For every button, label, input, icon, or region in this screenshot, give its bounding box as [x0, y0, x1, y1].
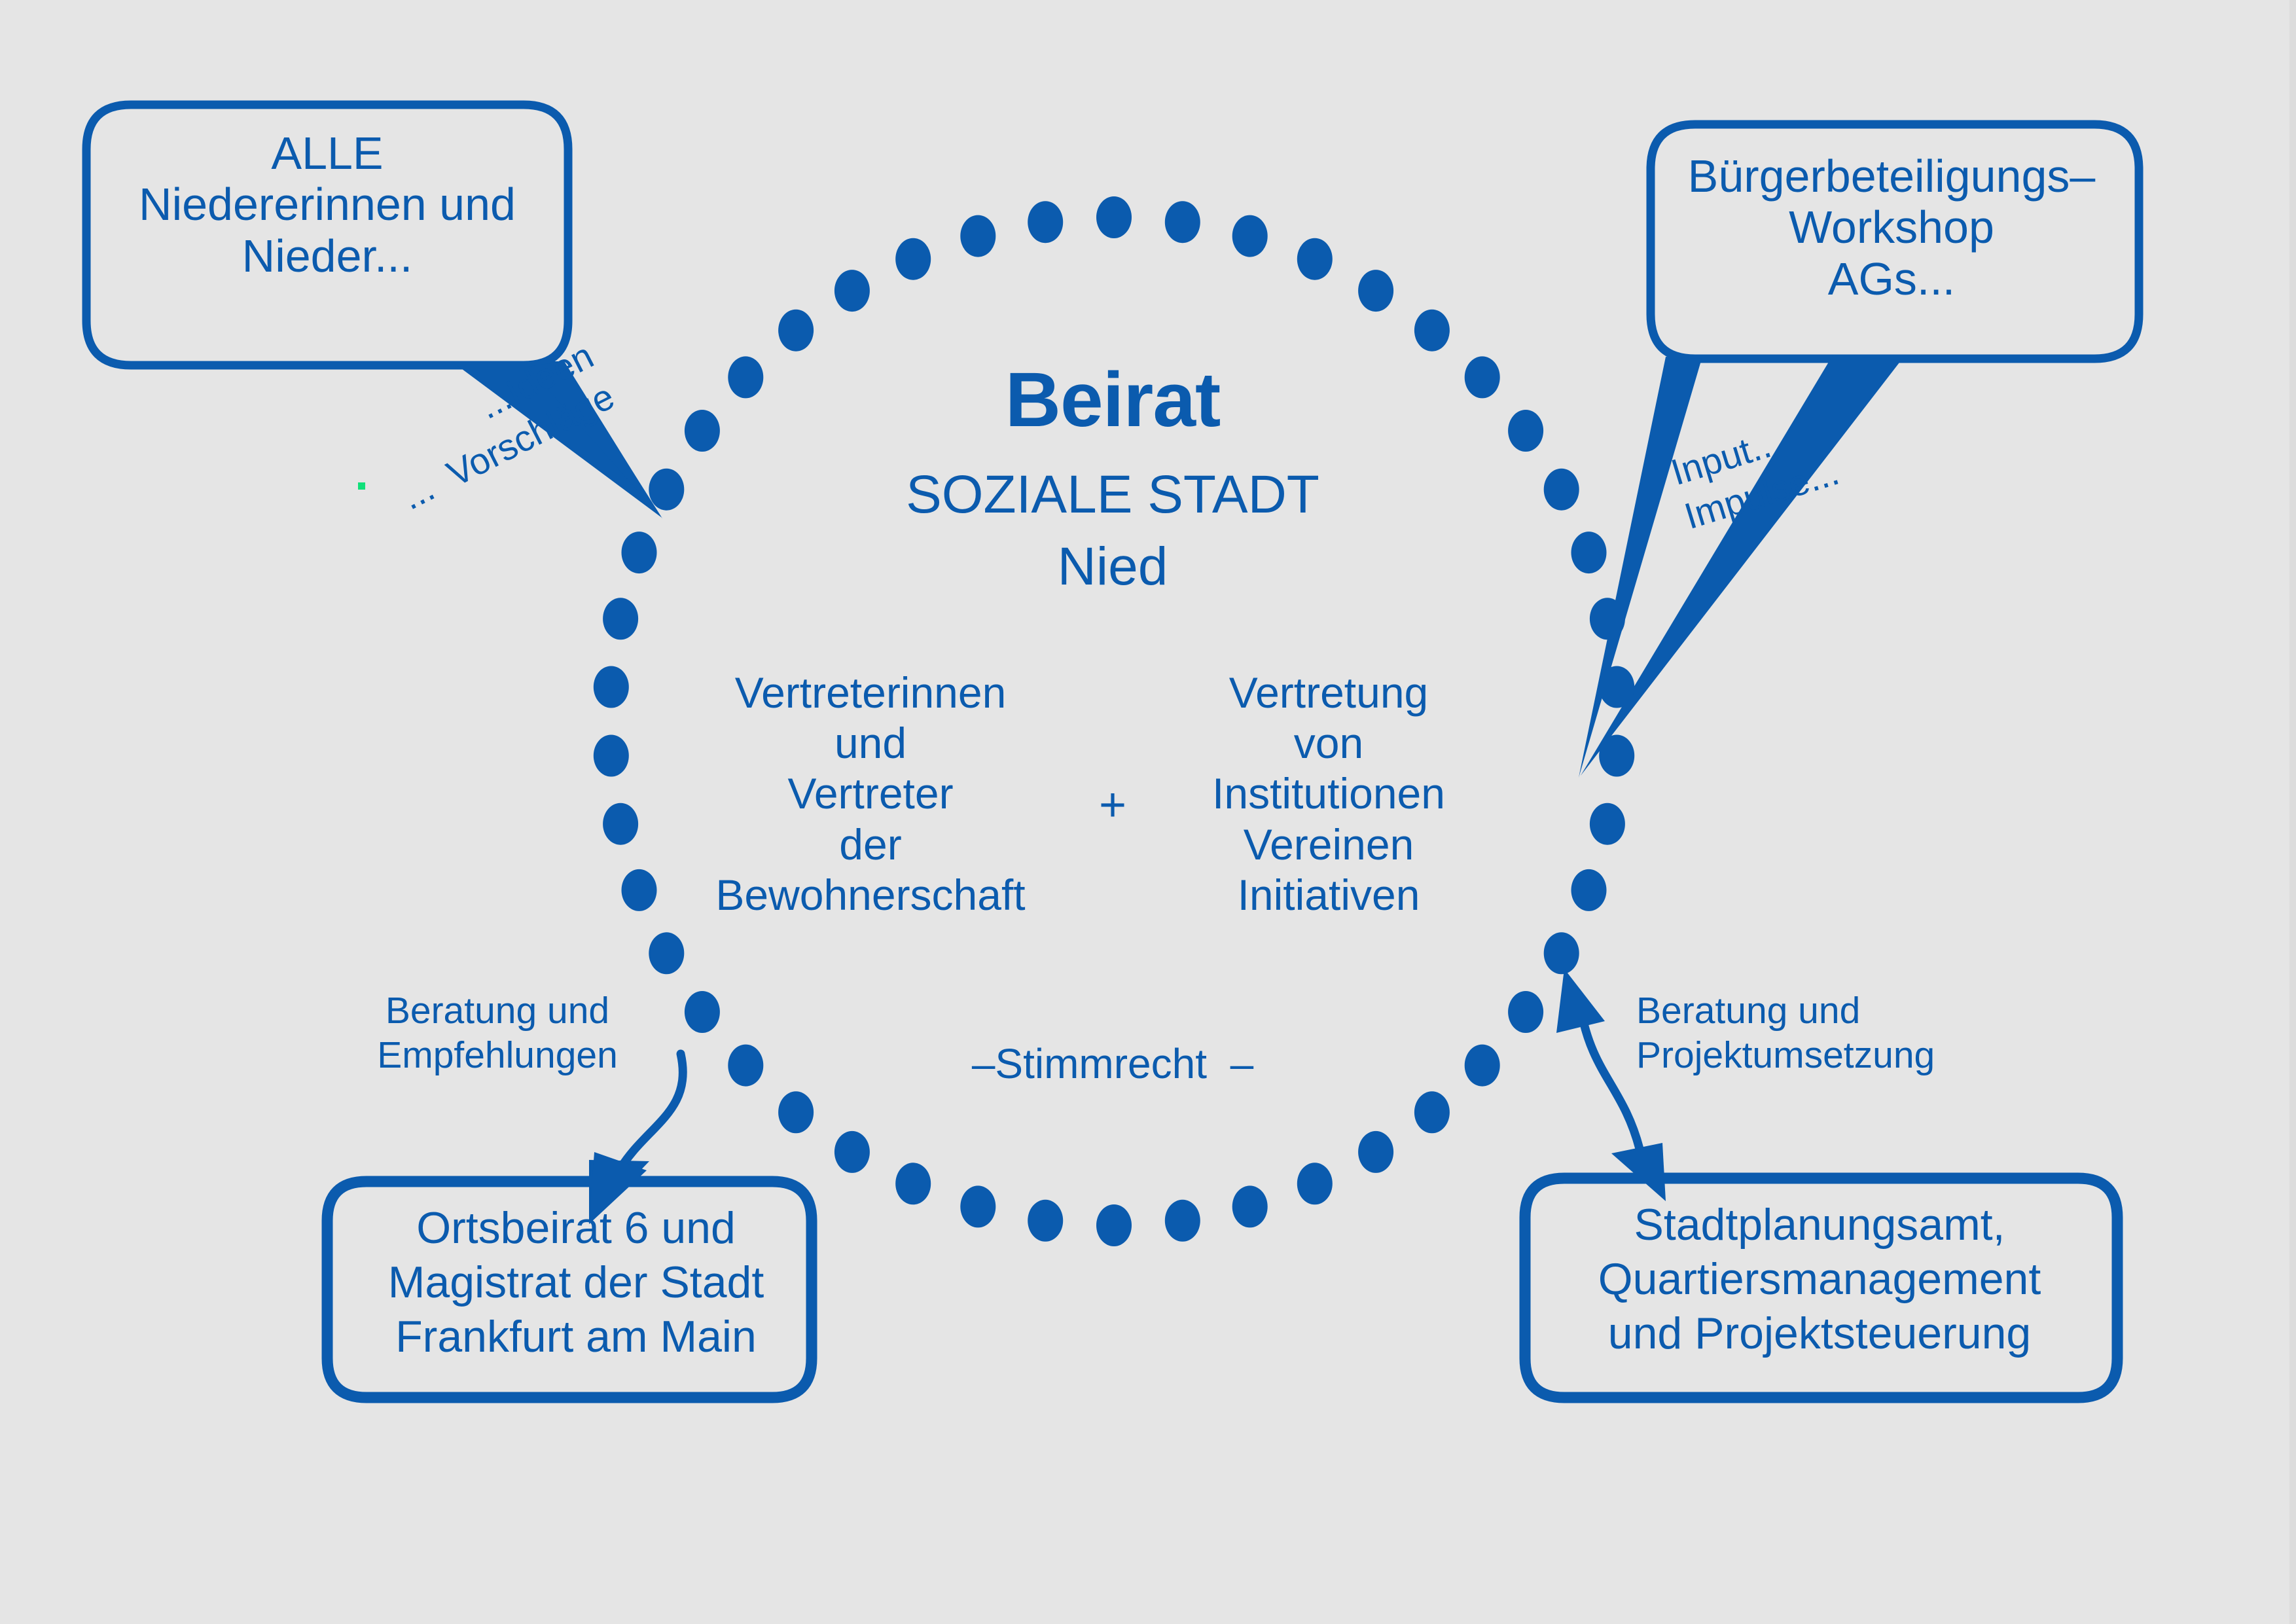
box-bottom-right-text: Stadtplanungsamt, Quartiersmanagement un… — [1532, 1198, 2108, 1361]
ring-dot — [685, 410, 720, 452]
ring-dot — [622, 532, 657, 573]
bubble-tr-line2: Workshop — [1789, 202, 1994, 253]
ring-dot — [1414, 1091, 1450, 1133]
ring-dot — [1571, 869, 1607, 911]
ring-dot — [594, 735, 629, 777]
circle-subtitle-line2: Nied — [779, 537, 1446, 597]
ring-dot — [728, 1045, 763, 1087]
ring-dot — [622, 869, 657, 911]
ring-dot — [685, 991, 720, 1033]
ring-dot — [1358, 1131, 1393, 1173]
ring-dot — [1358, 270, 1393, 312]
ring-dot — [1028, 201, 1063, 243]
ring-dot — [778, 1091, 814, 1133]
bubble-tl-line2: Niedererinnen und — [139, 179, 516, 230]
ring-dot — [1165, 201, 1200, 243]
ring-dot — [649, 469, 684, 511]
ring-dot — [1544, 469, 1579, 511]
ring-dot — [1465, 356, 1500, 398]
ring-dot — [1096, 1204, 1132, 1246]
ring-dot — [594, 666, 629, 708]
ring-dot — [834, 1131, 870, 1173]
ring-dot — [1599, 666, 1634, 708]
ring-dot — [1028, 1200, 1063, 1242]
ring-dot — [649, 932, 684, 974]
ring-dot — [1544, 932, 1579, 974]
flow-label-beratung-projektumsetzung: Beratung und Projektumsetzung — [1636, 988, 1977, 1078]
bubble-tl-line1: ALLE — [271, 128, 383, 179]
bubble-tr-line1: Bürgerbeteiligungs– — [1688, 151, 2096, 202]
ring-dot — [1508, 991, 1543, 1033]
box-bottom-left-text: Ortsbeirat 6 und Magistrat der Stadt Fra… — [340, 1201, 812, 1364]
bubble-tl-line3: Nieder... — [242, 230, 413, 281]
bubble-tr-line3: AGs... — [1828, 253, 1955, 304]
ring-dot — [1590, 598, 1625, 640]
ring-dot — [1165, 1200, 1200, 1242]
green-marker-dot — [358, 482, 365, 490]
circle-left-column: Vertreterinnen und Vertreter der Bewohne… — [707, 668, 1034, 920]
circle-subtitle-line1: SOZIALE STADT — [779, 465, 1446, 525]
diagram-canvas: ALLE Niedererinnen und Nieder... Bürgerb… — [0, 0, 2296, 1624]
circle-right-column: Vertretung von Institutionen Vereinen In… — [1191, 668, 1466, 920]
arrow-beirat-to-ortsbeirat — [589, 1054, 683, 1224]
ring-dot — [895, 1163, 931, 1204]
ring-dot — [1232, 215, 1268, 257]
ring-dot — [1297, 1163, 1333, 1204]
ring-dot — [1599, 735, 1634, 777]
circle-plus-operator: + — [1067, 779, 1158, 832]
ring-dot — [1508, 410, 1543, 452]
ring-dot — [1590, 803, 1625, 845]
circle-stimmrecht-note: –Stimmrecht – — [910, 1041, 1316, 1088]
ring-dot — [603, 598, 638, 640]
ring-dot — [603, 803, 638, 845]
ring-dot — [778, 310, 814, 352]
flow-label-beratung-empfehlungen: Beratung und Empfehlungen — [353, 988, 641, 1078]
ring-dot — [1465, 1045, 1500, 1087]
ring-dot — [834, 270, 870, 312]
ring-dot — [1232, 1185, 1268, 1227]
bubble-top-left-text: ALLE Niedererinnen und Nieder... — [92, 128, 563, 281]
ring-dot — [1297, 238, 1333, 280]
ring-dot — [960, 215, 996, 257]
ring-dot — [895, 238, 931, 280]
ring-dot — [1414, 310, 1450, 352]
ring-dot — [1096, 196, 1132, 238]
ring-dot — [1571, 532, 1607, 573]
ring-dot — [728, 356, 763, 398]
ring-dot — [960, 1185, 996, 1227]
bubble-top-right-text: Bürgerbeteiligungs– Workshop AGs... — [1656, 151, 2127, 304]
circle-title: Beirat — [779, 357, 1446, 443]
